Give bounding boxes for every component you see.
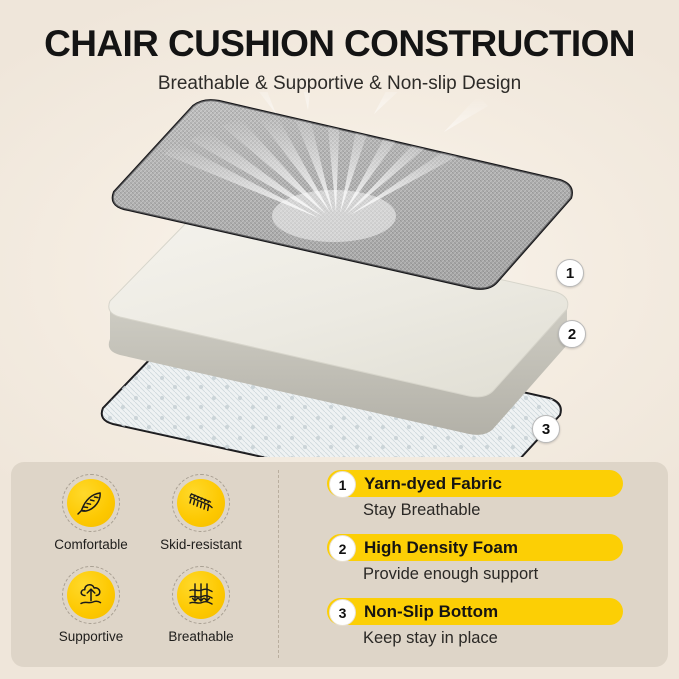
- spec-pill: 2 High Density Foam: [327, 534, 623, 561]
- page-title: CHAIR CUSHION CONSTRUCTION: [0, 0, 679, 66]
- panel-divider: [278, 470, 279, 658]
- airflow-arrows-icon: [177, 571, 225, 619]
- spec-item-3[interactable]: 3 Non-Slip Bottom Keep stay in place: [327, 598, 657, 648]
- spec-subtitle: Stay Breathable: [327, 501, 657, 520]
- brush-bristles-icon: [177, 479, 225, 527]
- feature-icon-ring: [172, 474, 230, 532]
- spec-number-badge: 2: [329, 535, 356, 562]
- header: CHAIR CUSHION CONSTRUCTION Breathable & …: [0, 0, 679, 96]
- feature-skid-resistant[interactable]: Skid-resistant: [145, 474, 257, 552]
- spec-item-2[interactable]: 2 High Density Foam Provide enough suppo…: [327, 534, 657, 584]
- cloud-up-arrow-icon: [67, 571, 115, 619]
- spec-number-badge: 1: [329, 471, 356, 498]
- spec-subtitle: Keep stay in place: [327, 629, 657, 648]
- feature-label: Breathable: [145, 629, 257, 644]
- spec-subtitle: Provide enough support: [327, 565, 657, 584]
- diagram-badge-2: 2: [558, 320, 586, 348]
- feature-supportive[interactable]: Supportive: [35, 566, 147, 644]
- spec-pill: 3 Non-Slip Bottom: [327, 598, 623, 625]
- spec-number-badge: 3: [329, 599, 356, 626]
- feature-comfortable[interactable]: Comfortable: [35, 474, 147, 552]
- feature-icon-ring: [62, 566, 120, 624]
- feature-breathable[interactable]: Breathable: [145, 566, 257, 644]
- feature-icon-grid: Comfortable: [33, 474, 269, 656]
- diagram-badge-3: 3: [532, 415, 560, 443]
- features-panel: Comfortable: [11, 462, 668, 667]
- feature-icon-ring: [172, 566, 230, 624]
- feature-icon-ring: [62, 474, 120, 532]
- feather-icon: [67, 479, 115, 527]
- feature-label: Comfortable: [35, 537, 147, 552]
- feature-label: Supportive: [35, 629, 147, 644]
- feature-label: Skid-resistant: [145, 537, 257, 552]
- spec-list: 1 Yarn-dyed Fabric Stay Breathable 2 Hig…: [327, 470, 657, 660]
- spec-pill: 1 Yarn-dyed Fabric: [327, 470, 623, 497]
- infographic-root: CHAIR CUSHION CONSTRUCTION Breathable & …: [0, 0, 679, 679]
- diagram-badge-1: 1: [556, 259, 584, 287]
- cushion-exploded-diagram: 1 2 3: [0, 92, 679, 457]
- spec-item-1[interactable]: 1 Yarn-dyed Fabric Stay Breathable: [327, 470, 657, 520]
